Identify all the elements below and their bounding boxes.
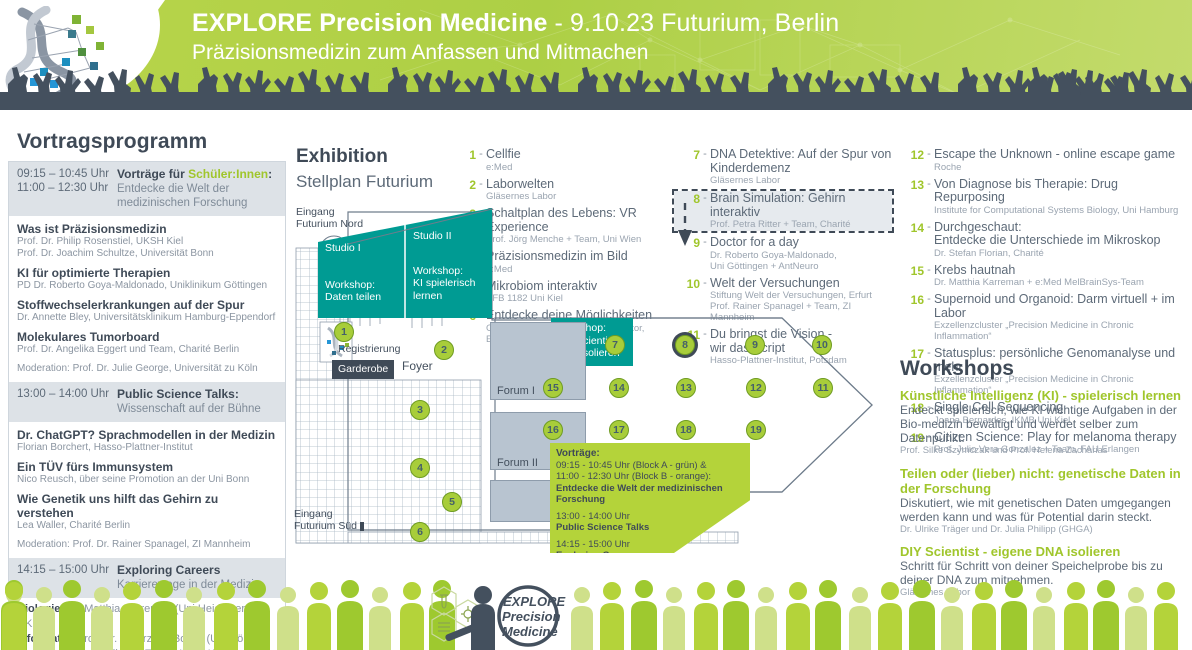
stand-badge-15[interactable]: 15 <box>543 378 563 398</box>
legend-number: 14 <box>900 221 924 259</box>
info-box-heading: Vorträge: <box>556 448 600 459</box>
page-title: EXPLORE Precision Medicine - 9.10.23 Fut… <box>192 9 839 38</box>
block-title-bold: Public Science Talks: <box>117 387 239 401</box>
studio-1-name: Studio I <box>325 242 401 255</box>
stand-badge-16[interactable]: 16 <box>543 420 563 440</box>
legend-title: Escape the Unknown - online escape game <box>934 147 1175 161</box>
people-silhouette-footer: EXPLORE Precision Medicine <box>0 575 1192 650</box>
poster-page: EXPLORE Precision Medicine - 9.10.23 Fut… <box>0 0 1192 650</box>
talk-speakers: Nico Reusch, über seine Promotion an der… <box>17 474 277 486</box>
legend-sub: e:Med <box>486 162 674 173</box>
stand-badge-6[interactable]: 6 <box>410 522 430 542</box>
studio-1-workshop: Workshop: Daten teilen <box>325 279 401 304</box>
block-title-highlight: Schüler:Innen <box>188 167 268 181</box>
studio-2-name: Studio II <box>413 230 489 243</box>
legend-item[interactable]: 13-Von Diagnose bis Therapie: Drug Repur… <box>900 178 1188 216</box>
block-title-suffix: : <box>268 167 272 181</box>
block-title: Public Science Talks: Wissenschaft auf d… <box>117 387 261 416</box>
studio-2-workshop: Workshop: KI spielerisch lernen <box>413 265 489 303</box>
legend-title: DNA Detektive: Auf der Spur von Kinderde… <box>710 147 891 175</box>
legend-dash-icon: - <box>700 148 710 186</box>
floorplan[interactable]: Studio I Workshop: Daten teilen Studio I… <box>292 200 892 560</box>
entrance-north-label: Eingang Futurium Nord <box>296 206 363 230</box>
workshop-title: Teilen oder (lieber) nicht: genetische D… <box>900 466 1190 496</box>
stand-badge-18[interactable]: 18 <box>676 420 696 440</box>
page-subtitle: Präzisionsmedizin zum Anfassen und Mitma… <box>192 41 648 65</box>
stand-badge-12[interactable]: 12 <box>746 378 766 398</box>
block-time: 13:00 – 14:00 Uhr <box>17 387 117 401</box>
stand-badge-5[interactable]: 5 <box>442 492 462 512</box>
workshop-item[interactable]: Künstliche Intelligenz (KI) - spielerisc… <box>900 388 1190 457</box>
talk-title: Was ist Präzisionsmedizin <box>17 222 277 236</box>
stand-badge-8-selected[interactable]: 8 <box>675 335 695 355</box>
block-times: 09:15 – 10:45 Uhr 11:00 – 12:30 Uhr <box>17 167 117 210</box>
logo-line-1: EXPLORE <box>503 594 565 609</box>
workshop-author: Prof. Silke Szymczak und Prof. Helena Za… <box>900 445 1190 457</box>
legend-sub: Institute for Computational Systems Biol… <box>934 205 1188 216</box>
stand-badge-3[interactable]: 3 <box>410 400 430 420</box>
block-time: 11:00 – 12:30 Uhr <box>17 181 117 195</box>
block-title-prefix: Vorträge für <box>117 167 188 181</box>
exhibition-title: Exhibition <box>296 146 388 168</box>
stand-badge-14[interactable]: 14 <box>609 378 629 398</box>
legend-dash-icon: - <box>476 148 486 173</box>
block-times: 13:00 – 14:00 Uhr <box>17 387 117 416</box>
legend-item[interactable]: 15-Krebs hautnahDr. Matthia Karreman + e… <box>900 264 1188 289</box>
talk-title: KI für optimierte Therapien <box>17 266 277 280</box>
talk-item: Molekulares TumorboardProf. Dr. Angelika… <box>17 330 277 356</box>
stand-badge-7[interactable]: 7 <box>605 335 625 355</box>
workshop-description: Diskutiert, wie mit genetischen Daten um… <box>900 496 1190 524</box>
legend-item[interactable]: 14-Durchgeschaut: Entdecke die Unterschi… <box>900 221 1188 259</box>
workshop-description: Endeckt spielerisch, wie KI wichtige Auf… <box>900 403 1190 445</box>
legend-number: 7 <box>676 148 700 186</box>
crowd-silhouette-decoration <box>0 64 1192 110</box>
legend-number: 1 <box>452 148 476 173</box>
talk-speakers: Florian Borchert, Hasso-Plattner-Institu… <box>17 442 277 454</box>
legend-item[interactable]: 7-DNA Detektive: Auf der Spur von Kinder… <box>676 148 892 186</box>
program-block-header: 09:15 – 10:45 Uhr 11:00 – 12:30 Uhr Vort… <box>9 162 285 216</box>
page-footer: EXPLORE Precision Medicine <box>0 575 1192 650</box>
workshop-author: Dr. Ulrike Träger und Dr. Julia Philipp … <box>900 524 1190 536</box>
legend-dash-icon: - <box>924 293 934 342</box>
logo-line-3: Medicine <box>502 624 558 639</box>
legend-item[interactable]: 12-Escape the Unknown - online escape ga… <box>900 148 1188 173</box>
stand-badge-11[interactable]: 11 <box>813 378 833 398</box>
talk-speakers: Dr. Annette Bley, Universitätsklinikum H… <box>17 312 277 324</box>
moderation-line: Moderation: Prof. Dr. Rainer Spanagel, Z… <box>17 538 277 551</box>
legend-sub: Dr. Matthia Karreman + e:Med MelBrainSys… <box>934 277 1188 288</box>
talk-item: Wie Genetik uns hilft das Gehirn zu vers… <box>17 492 277 532</box>
legend-sub: Roche <box>934 162 1188 173</box>
stand-badge-13[interactable]: 13 <box>676 378 696 398</box>
talk-title: Dr. ChatGPT? Sprachmodellen in der Mediz… <box>17 428 277 442</box>
info-box-line: 11:00 - 12:30 Uhr (Block B - orange): <box>556 471 744 483</box>
workshops-heading: Workshops <box>900 357 1014 381</box>
entrance-south-label: Eingang Futurium Süd <box>294 508 357 532</box>
legend-title: Cellfie <box>486 147 521 161</box>
workshop-item[interactable]: Teilen oder (lieber) nicht: genetische D… <box>900 466 1190 536</box>
program-block-body: Dr. ChatGPT? Sprachmodellen in der Mediz… <box>9 422 285 558</box>
legend-dash-icon: - <box>476 178 486 203</box>
forum-1-label: Forum I <box>497 385 535 397</box>
legend-sub: Dr. Stefan Florian, Charité <box>934 248 1188 259</box>
legend-title: Laborwelten <box>486 177 554 191</box>
info-box-line: Entdecke die Welt der medizinischen Fors… <box>556 483 744 506</box>
stand-badge-2[interactable]: 2 <box>434 340 454 360</box>
legend-sub: Exzellenzcluster „Precision Medicine in … <box>934 320 1188 342</box>
program-heading: Vortragsprogramm <box>17 130 286 154</box>
legend-item[interactable]: 1-Cellfiee:Med <box>452 148 674 173</box>
legend-item[interactable]: 16-Supernoid und Organoid: Darm virtuell… <box>900 293 1188 342</box>
talk-title: Stoffwechselerkrankungen auf der Spur <box>17 298 277 312</box>
talk-speakers: Prof. Dr. Angelika Eggert und Team, Char… <box>17 344 277 356</box>
title-date: - 9.10.23 Futurium, Berlin <box>547 9 839 37</box>
legend-dash-icon: - <box>924 178 934 216</box>
foyer-label: Foyer <box>402 360 433 372</box>
room-studio-1[interactable]: Studio I Workshop: Daten teilen <box>320 238 406 318</box>
block-time: 09:15 – 10:45 Uhr <box>17 167 117 181</box>
stand-badge-10[interactable]: 10 <box>812 335 832 355</box>
workshop-title: DIY Scientist - eigene DNA isolieren <box>900 544 1190 559</box>
talk-item: Ein TÜV fürs ImmunsystemNico Reusch, übe… <box>17 460 277 486</box>
talk-item: KI für optimierte TherapienPD Dr. Robert… <box>17 266 277 292</box>
info-box-line: 13:00 - 14:00 Uhr <box>556 511 744 523</box>
legend-number: 13 <box>900 178 924 216</box>
stand-badge-17[interactable]: 17 <box>609 420 629 440</box>
talk-speakers: PD Dr. Roberto Goya-Maldonado, Uniklinik… <box>17 280 277 292</box>
legend-number: 2 <box>452 178 476 203</box>
workshop-title: Künstliche Intelligenz (KI) - spielerisc… <box>900 388 1190 403</box>
legend-number: 16 <box>900 293 924 342</box>
stand-badge-19[interactable]: 19 <box>746 420 766 440</box>
talk-title: Ein TÜV fürs Immunsystem <box>17 460 277 474</box>
legend-number: 15 <box>900 264 924 289</box>
stand-badge-1[interactable]: 1 <box>334 322 354 342</box>
garderobe-label[interactable]: Garderobe <box>332 360 394 379</box>
legend-item[interactable]: 2-LaborweltenGläsernes Labor <box>452 178 674 203</box>
legend-sub: Gläsernes Labor <box>710 175 892 186</box>
legend-title: Krebs hautnah <box>934 263 1015 277</box>
block-subtitle: Entdecke die Welt der medizinischen Fors… <box>117 182 277 210</box>
registration-label: Registrierung <box>338 343 400 355</box>
exhibition-subtitle: Stellplan Futurium <box>296 172 433 192</box>
moderation-line: Moderation: Prof. Dr. Julie George, Univ… <box>17 362 277 375</box>
talk-title: Wie Genetik uns hilft das Gehirn zu vers… <box>17 492 277 520</box>
legend-dash-icon: - <box>924 264 934 289</box>
legend-title: Von Diagnose bis Therapie: Drug Repurpos… <box>934 177 1118 205</box>
legend-dash-icon: - <box>924 221 934 259</box>
program-column: Vortragsprogramm 09:15 – 10:45 Uhr 11:00… <box>8 130 286 650</box>
stand-badge-9[interactable]: 9 <box>745 335 765 355</box>
legend-number: 12 <box>900 148 924 173</box>
logo-line-2: Precision <box>502 609 561 624</box>
block-subtitle: Wissenschaft auf der Bühne <box>117 402 261 416</box>
talk-speakers: Lea Waller, Charité Berlin <box>17 520 277 532</box>
legend-dash-icon: - <box>924 148 934 173</box>
title-main: EXPLORE Precision Medicine <box>192 9 547 37</box>
talk-item: Was ist PräzisionsmedizinProf. Dr. Phili… <box>17 222 277 260</box>
program-block-header: 13:00 – 14:00 Uhr Public Science Talks: … <box>9 382 285 422</box>
forum-2-label: Forum II <box>497 457 538 469</box>
talk-item: Dr. ChatGPT? Sprachmodellen in der Mediz… <box>17 428 277 454</box>
legend-title: Supernoid und Organoid: Darm virtuell + … <box>934 292 1175 320</box>
talk-speakers: Prof. Dr. Philip Rosenstiel, UKSH Kiel P… <box>17 236 277 260</box>
block-title: Vorträge für Schüler:Innen: Entdecke die… <box>117 167 277 210</box>
stand-badge-4[interactable]: 4 <box>410 458 430 478</box>
program-block-body: Was ist PräzisionsmedizinProf. Dr. Phili… <box>9 216 285 382</box>
room-studio-2[interactable]: Studio II Workshop: KI spielerisch lerne… <box>408 226 494 318</box>
talk-title: Molekulares Tumorboard <box>17 330 277 344</box>
page-header: EXPLORE Precision Medicine - 9.10.23 Fut… <box>0 0 1192 110</box>
legend-title: Durchgeschaut: Entdecke die Unterschiede… <box>934 220 1161 248</box>
talk-item: Stoffwechselerkrankungen auf der SpurDr.… <box>17 298 277 324</box>
info-box-line: 09:15 - 10:45 Uhr (Block A - grün) & <box>556 460 744 472</box>
